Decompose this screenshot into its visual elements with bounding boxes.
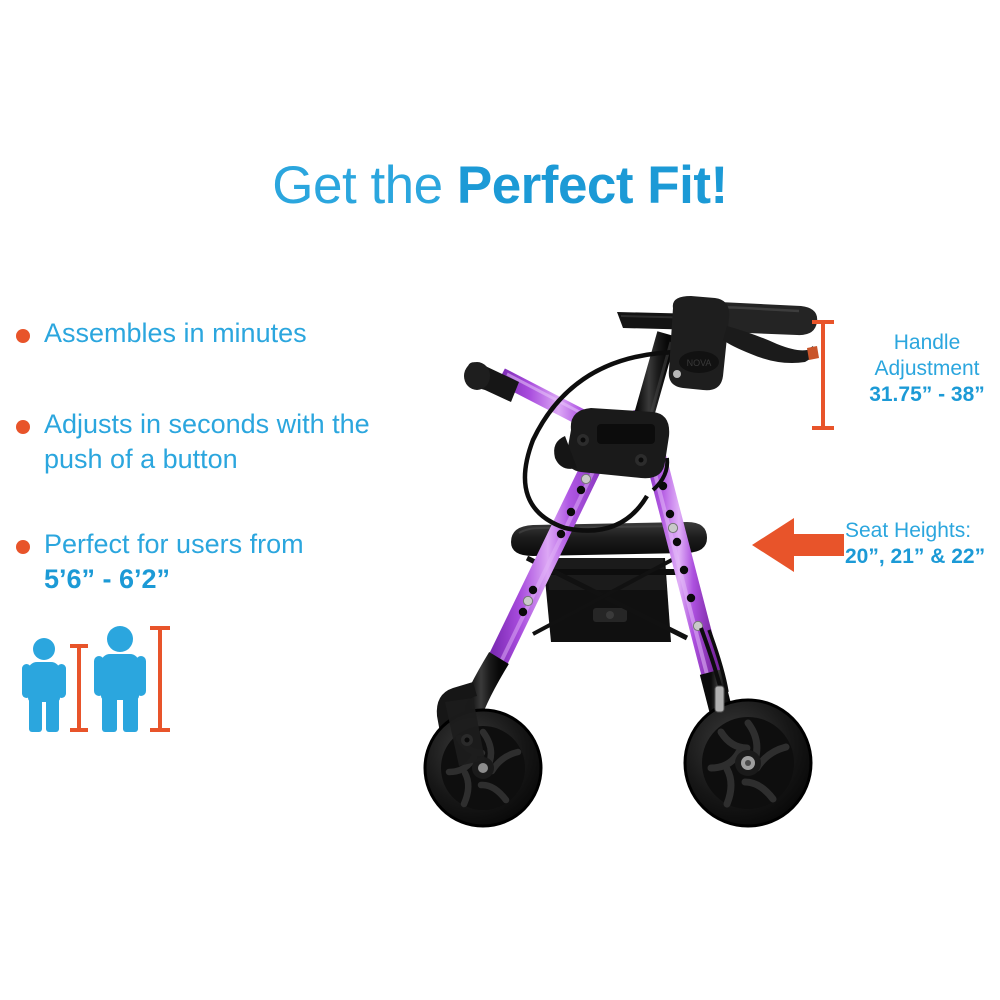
person-leg-left (102, 694, 117, 732)
handle-adjustment-callout: Handle Adjustment 31.75” - 38” (852, 330, 1000, 408)
bullet-dot-icon (16, 420, 30, 434)
seat-callout-label: Seat Heights: (845, 518, 1000, 544)
person-leg-left (29, 696, 42, 732)
tall-user-group (94, 626, 170, 732)
page-title-bold: Perfect Fit! (457, 156, 728, 215)
person-leg-right (46, 696, 59, 732)
measure-cap-bottom (70, 728, 88, 732)
bullet-dot-icon (16, 329, 30, 343)
measure-cap-bottom (812, 426, 834, 430)
measure-stem (77, 644, 81, 732)
height-measure-icon (70, 644, 88, 732)
short-user-group (22, 638, 88, 732)
measure-stem (158, 626, 162, 732)
arrow-left-icon (752, 516, 844, 574)
handle-adjustment-measure-icon (812, 320, 834, 430)
person-head (107, 626, 133, 652)
seat-callout-value: 20”, 21” & 22” (845, 544, 1000, 570)
measure-stem (821, 320, 825, 430)
handle-callout-value: 31.75” - 38” (852, 382, 1000, 408)
list-item: Assembles in minutes (8, 316, 408, 351)
handle-callout-label-line1: Handle (852, 330, 1000, 356)
bullet-text: Assembles in minutes (44, 318, 307, 348)
seat-heights-callout: Seat Heights: 20”, 21” & 22” (845, 518, 1000, 570)
infographic-page: Get the Perfect Fit! Assembles in minute… (0, 0, 1000, 1000)
page-title-light: Get the (272, 156, 457, 215)
user-height-comparison (22, 612, 182, 732)
person-leg-right (123, 694, 138, 732)
person-icon (94, 626, 146, 732)
page-title: Get the Perfect Fit! (0, 155, 1000, 217)
svg-text:NOVA: NOVA (687, 358, 712, 368)
bullet-text: Adjusts in seconds with the push of a bu… (44, 409, 370, 474)
handle-callout-label-line2: Adjustment (852, 356, 1000, 382)
list-item: Adjusts in seconds with the push of a bu… (8, 407, 408, 477)
bullet-dot-icon (16, 540, 30, 554)
feature-bullet-list: Assembles in minutes Adjusts in seconds … (8, 316, 408, 597)
person-head (33, 638, 55, 660)
height-measure-icon (150, 626, 170, 732)
bullet-emphasis: 5’6” - 6’2” (44, 562, 408, 597)
measure-cap-bottom (150, 728, 170, 732)
rear-wheel (685, 700, 811, 826)
list-item: Perfect for users from 5’6” - 6’2” (8, 527, 408, 597)
person-icon (22, 638, 66, 732)
bullet-text: Perfect for users from (44, 529, 304, 559)
